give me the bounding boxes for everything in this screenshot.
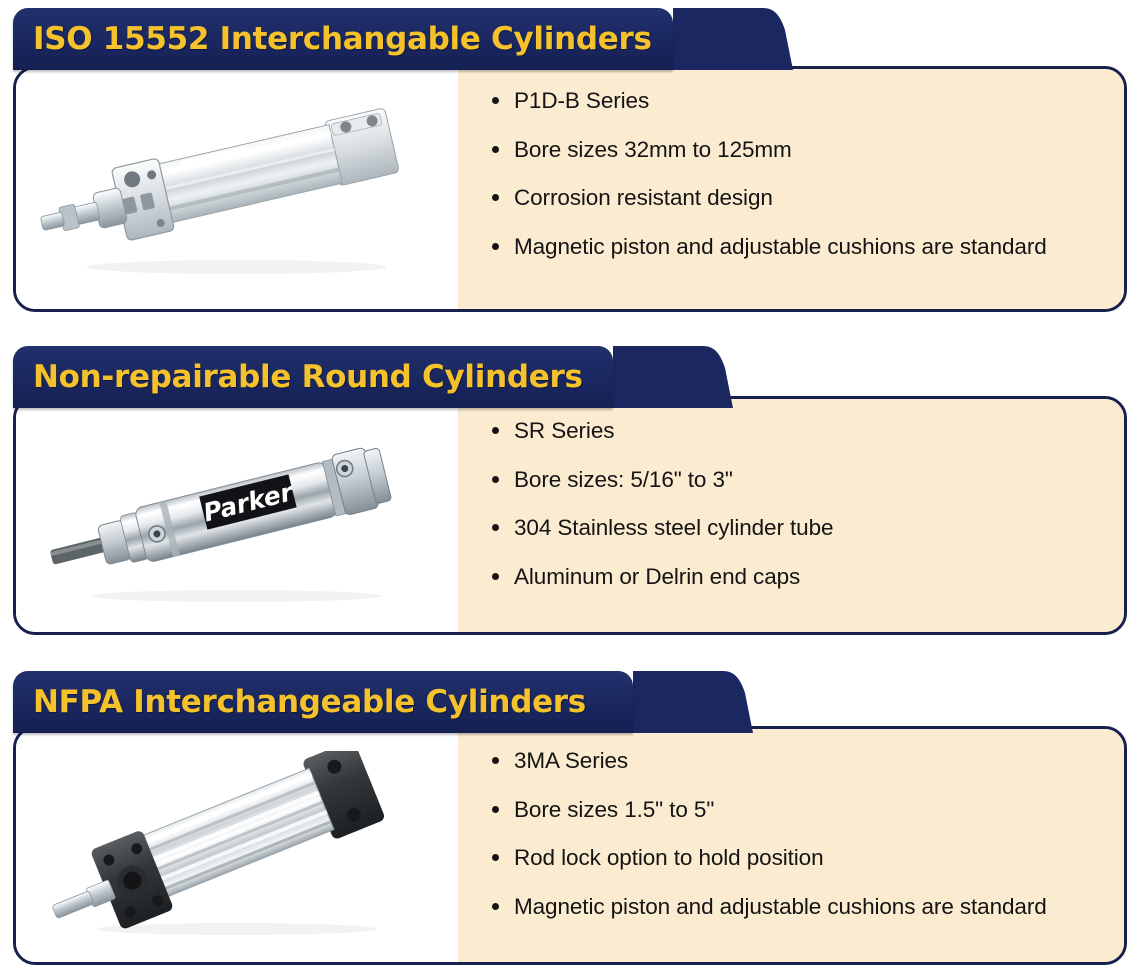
- product-section-iso-15552: ISO 15552 Interchangable Cylinders: [0, 0, 1140, 330]
- list-item: Bore sizes 32mm to 125mm: [488, 136, 1098, 164]
- section-header-banner-round: Non-repairable Round Cylinders: [13, 346, 613, 408]
- list-item: Bore sizes 1.5" to 5": [488, 796, 1098, 824]
- section-header-banner-nfpa: NFPA Interchangeable Cylinders: [13, 671, 633, 733]
- section-title-round: Non-repairable Round Cylinders: [33, 362, 583, 393]
- section-title-nfpa: NFPA Interchangeable Cylinders: [33, 687, 586, 718]
- product-section-nfpa: NFPA Interchangeable Cylinders: [0, 663, 1140, 980]
- spec-list-nfpa: 3MA Series Bore sizes 1.5" to 5" Rod loc…: [488, 747, 1098, 921]
- section-header-banner-iso: ISO 15552 Interchangable Cylinders: [13, 8, 673, 70]
- list-item: 304 Stainless steel cylinder tube: [488, 514, 1098, 542]
- product-card-round: Parker SR Series Bore sizes: 5/16": [13, 396, 1127, 635]
- product-card-nfpa: 3MA Series Bore sizes 1.5" to 5" Rod loc…: [13, 726, 1127, 965]
- banner-tail-iso: [673, 8, 793, 70]
- nfpa-cylinder-photo: [16, 729, 458, 962]
- spec-panel-iso: P1D-B Series Bore sizes 32mm to 125mm Co…: [458, 69, 1124, 309]
- list-item: Bore sizes: 5/16" to 3": [488, 466, 1098, 494]
- list-item: Rod lock option to hold position: [488, 844, 1098, 872]
- product-card-iso: P1D-B Series Bore sizes 32mm to 125mm Co…: [13, 66, 1127, 312]
- list-item: SR Series: [488, 417, 1098, 445]
- list-item: Corrosion resistant design: [488, 184, 1098, 212]
- product-section-round: Non-repairable Round Cylinders: [0, 338, 1140, 658]
- list-item: P1D-B Series: [488, 87, 1098, 115]
- iso-cylinder-photo: [16, 69, 458, 309]
- product-family-sheet: ISO 15552 Interchangable Cylinders: [0, 0, 1140, 980]
- section-title-iso: ISO 15552 Interchangable Cylinders: [33, 24, 652, 55]
- list-item: 3MA Series: [488, 747, 1098, 775]
- list-item: Magnetic piston and adjustable cushions …: [488, 233, 1098, 261]
- list-item: Magnetic piston and adjustable cushions …: [488, 893, 1098, 921]
- list-item: Aluminum or Delrin end caps: [488, 563, 1098, 591]
- banner-tail-nfpa: [633, 671, 753, 733]
- spec-panel-nfpa: 3MA Series Bore sizes 1.5" to 5" Rod loc…: [458, 729, 1124, 962]
- banner-tail-round: [613, 346, 733, 408]
- spec-list-round: SR Series Bore sizes: 5/16" to 3" 304 St…: [488, 417, 1098, 591]
- round-cylinder-photo: Parker: [16, 399, 458, 632]
- spec-list-iso: P1D-B Series Bore sizes 32mm to 125mm Co…: [488, 87, 1098, 261]
- spec-panel-round: SR Series Bore sizes: 5/16" to 3" 304 St…: [458, 399, 1124, 632]
